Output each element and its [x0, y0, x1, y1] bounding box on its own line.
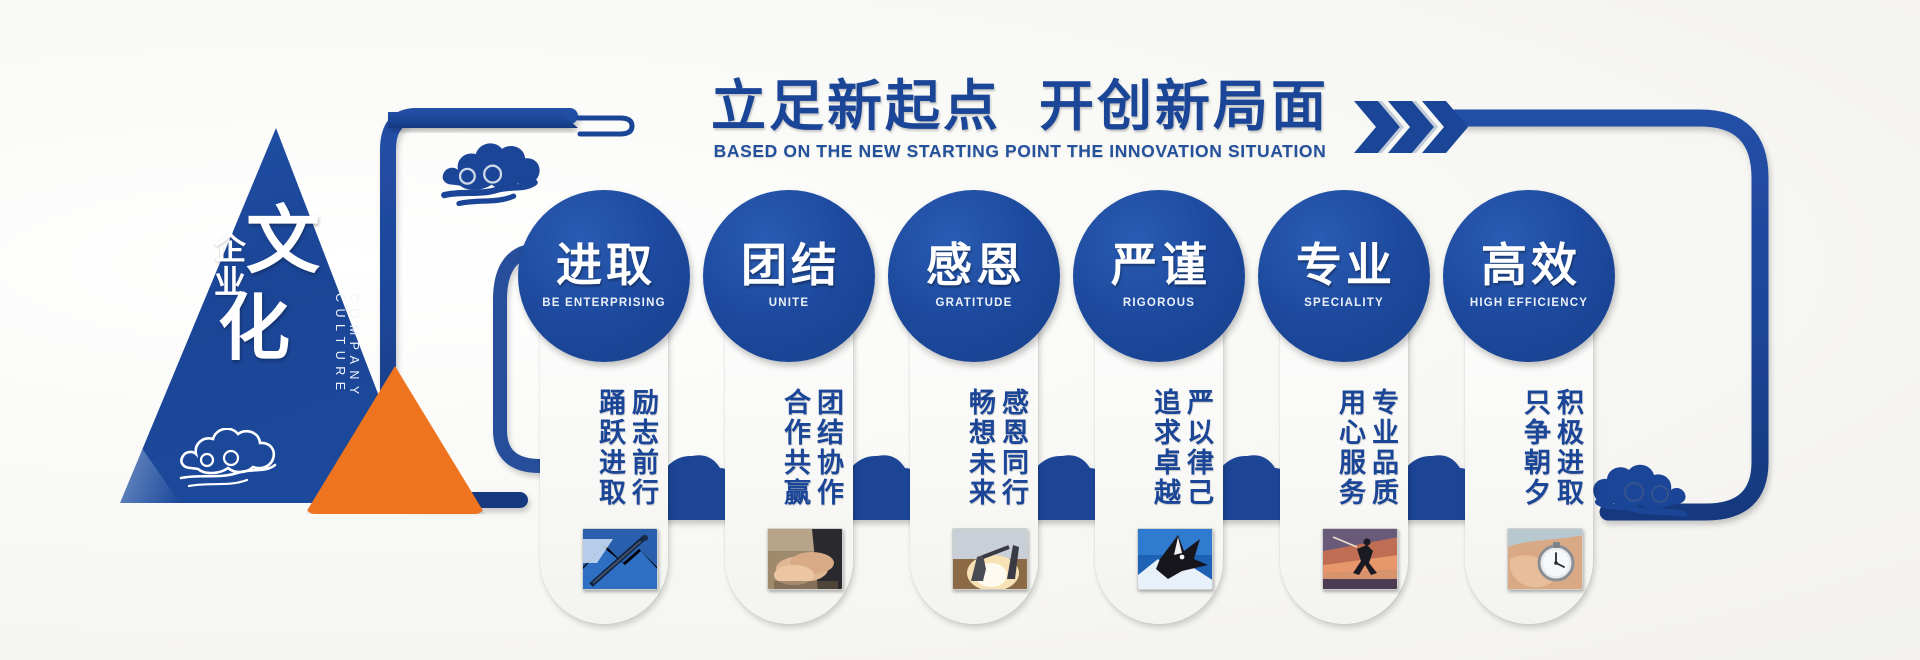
pill-slogan: 积极进取 只争朝夕 [1521, 388, 1581, 508]
value-pill[interactable]: 专业 SPECIALITY 专业品质 用心服务 [1280, 238, 1408, 624]
pill-circle-badge: 感恩 GRATITUDE [888, 190, 1060, 362]
pill-circle-badge: 高效 HIGH EFFICIENCY [1443, 190, 1615, 362]
pill-chinese-word: 团结 [741, 243, 841, 289]
pill-slogan-left: 畅想未来 [966, 388, 993, 508]
pill-slogan-right: 专业品质 [1369, 388, 1396, 508]
pill-chinese-word: 高效 [1481, 243, 1581, 289]
pill-english-word: SPECIALITY [1304, 297, 1384, 309]
pill-circle-badge: 专业 SPECIALITY [1258, 190, 1430, 362]
pill-chinese-word: 进取 [556, 243, 656, 289]
pill-circle-badge: 进取 BE ENTERPRISING [518, 190, 690, 362]
value-pill[interactable]: 团结 UNITE 团结协作 合作共赢 [725, 238, 853, 624]
pill-chinese-word: 严谨 [1111, 243, 1211, 289]
culture-wall-canvas: 企业 文 化 COMPANY CULTURE 立足新起点开创新局面 BASED … [0, 0, 1920, 660]
pill-english-word: RIGOROUS [1123, 297, 1195, 309]
pill-circle-badge: 严谨 RIGOROUS [1073, 190, 1245, 362]
value-pill[interactable]: 进取 BE ENTERPRISING 励志前行 踊跃进取 [540, 238, 668, 624]
pill-slogan-right: 团结协作 [814, 388, 841, 508]
pill-slogan-right: 励志前行 [629, 388, 656, 508]
pill-slogan-right: 严以律己 [1184, 388, 1211, 508]
pill-slogan: 团结协作 合作共赢 [781, 388, 841, 508]
pill-english-word: BE ENTERPRISING [542, 297, 665, 309]
pill-slogan: 励志前行 踊跃进取 [596, 388, 656, 508]
pill-slogan-right: 感恩同行 [999, 388, 1026, 508]
value-pill[interactable]: 感恩 GRATITUDE 感恩同行 畅想未来 [910, 238, 1038, 624]
rocket-launch-photo [582, 528, 658, 590]
pill-slogan: 严以律己 追求卓越 [1151, 388, 1211, 508]
pill-slogan-left: 追求卓越 [1151, 388, 1178, 508]
pill-slogan-left: 合作共赢 [781, 388, 808, 508]
pill-circle-badge: 团结 UNITE [703, 190, 875, 362]
pill-chinese-word: 感恩 [926, 243, 1026, 289]
pill-english-word: HIGH EFFICIENCY [1470, 297, 1588, 309]
helping-hand-sunset-photo [952, 528, 1028, 590]
pill-slogan: 感恩同行 畅想未来 [966, 388, 1026, 508]
value-pill[interactable]: 严谨 RIGOROUS 严以律己 追求卓越 [1095, 238, 1223, 624]
pill-slogan-left: 踊跃进取 [596, 388, 623, 508]
value-pill[interactable]: 高效 HIGH EFFICIENCY 积极进取 只争朝夕 [1465, 238, 1593, 624]
value-pill-list: 进取 BE ENTERPRISING 励志前行 踊跃进取 [0, 0, 1920, 660]
flying-eagle-photo [1137, 528, 1213, 590]
pill-chinese-word: 专业 [1296, 243, 1396, 289]
pill-slogan-right: 积极进取 [1554, 388, 1581, 508]
pill-english-word: UNITE [769, 297, 810, 309]
stopwatch-in-hand-photo [1507, 528, 1583, 590]
ballet-dancer-sunset-photo [1322, 528, 1398, 590]
handshake-hands-photo [767, 528, 843, 590]
pill-slogan: 专业品质 用心服务 [1336, 388, 1396, 508]
pill-english-word: GRATITUDE [935, 297, 1012, 309]
pill-slogan-left: 用心服务 [1336, 388, 1363, 508]
pill-slogan-left: 只争朝夕 [1521, 388, 1548, 508]
